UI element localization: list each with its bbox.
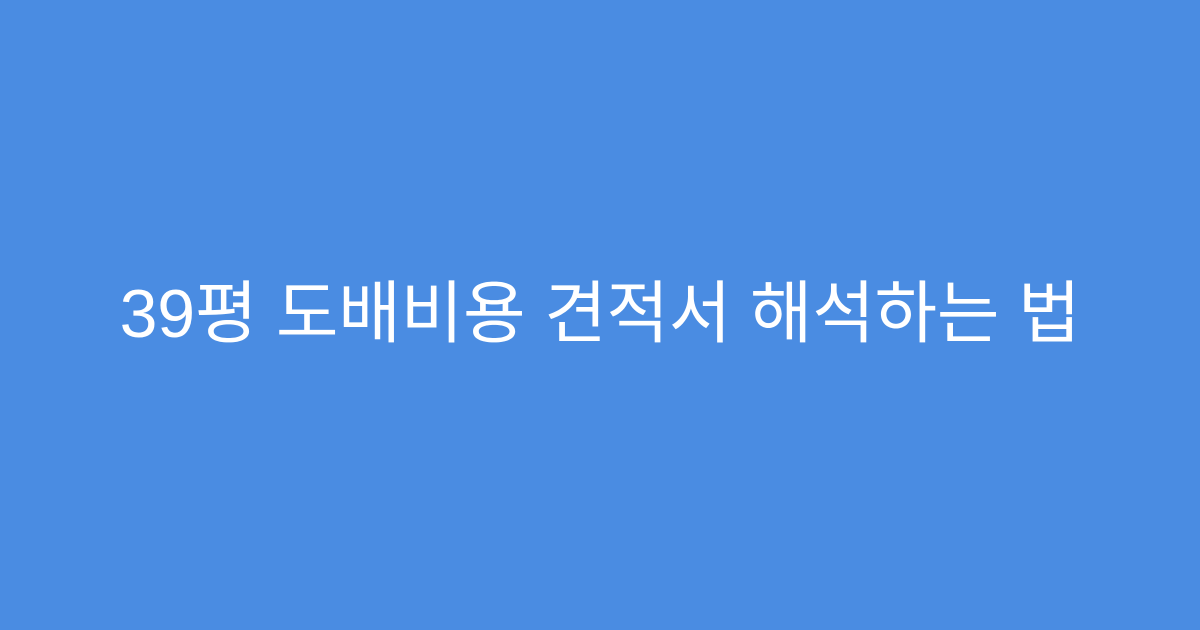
page-title: 39평 도배비용 견적서 해석하는 법 [120,271,1081,358]
headline-container: 39평 도배비용 견적서 해석하는 법 [100,271,1100,358]
og-card: 39평 도배비용 견적서 해석하는 법 [0,0,1200,630]
